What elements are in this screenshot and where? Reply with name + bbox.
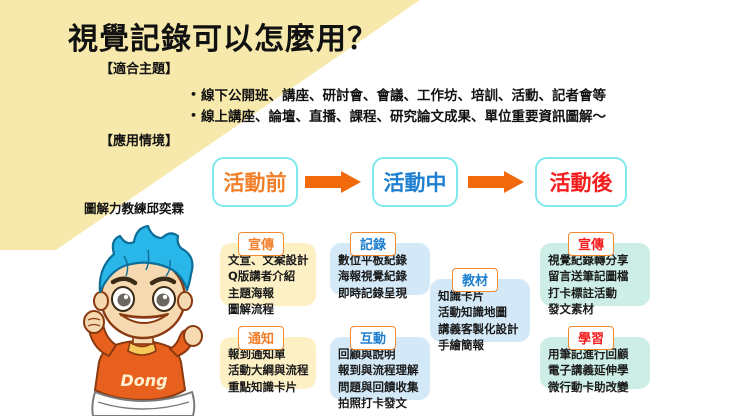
card-line: 拍照打卡發文 <box>338 395 422 411</box>
category-chip-learning[interactable]: 學習 <box>568 326 614 350</box>
stage-box-before[interactable]: 活動前 <box>212 157 298 207</box>
stage-box-during[interactable]: 活動中 <box>372 157 458 207</box>
section-label-application-scenarios: 【應用情境】 <box>100 130 178 149</box>
category-chip-promotion-after[interactable]: 宣傳 <box>568 232 614 256</box>
slide-canvas: 視覺記錄可以怎麼用？ 【適合主題】 線下公開班、講座、研討會、會議、工作坊、培訓… <box>0 0 740 416</box>
category-chip-interaction[interactable]: 互動 <box>350 326 396 350</box>
card-line: 微行動卡助改變 <box>548 379 642 395</box>
category-chip-promotion-before[interactable]: 宣傳 <box>238 232 284 256</box>
card-line: 問題與回饋收集 <box>338 379 422 395</box>
bullet-item: 線上講座、論壇、直播、課程、研究論文成果、單位重要資訊圖解～ <box>190 107 606 128</box>
card-line: 即時記錄呈現 <box>338 285 422 301</box>
card-line: 主題海報 <box>228 285 308 301</box>
page-title: 視覺記錄可以怎麼用？ <box>68 14 378 58</box>
card-line: 留言送筆記圖檔 <box>548 268 642 284</box>
suitable-topics-bullet-list: 線下公開班、講座、研討會、會議、工作坊、培訓、活動、記者會等 線上講座、論壇、直… <box>190 86 606 128</box>
arrow-right-icon <box>305 171 361 193</box>
category-chip-notification[interactable]: 通知 <box>238 326 284 350</box>
card-line: Q版講者介紹 <box>228 268 308 284</box>
mascot-illustration: Dong <box>78 216 208 416</box>
bullet-item: 線下公開班、講座、研討會、會議、工作坊、培訓、活動、記者會等 <box>190 86 606 107</box>
category-chip-teaching-material[interactable]: 教材 <box>452 268 498 292</box>
card-line: 海報視覺紀錄 <box>338 268 422 284</box>
card-line: 電子講義延伸學 <box>548 362 642 378</box>
arrow-right-icon <box>468 171 524 193</box>
card-line: 活動大綱與流程 <box>228 362 308 378</box>
card-line: 手繪簡報 <box>438 337 522 353</box>
mascot-boy-icon: Dong <box>78 216 208 416</box>
category-chip-record[interactable]: 記錄 <box>350 232 396 256</box>
card-line: 發文素材 <box>548 301 642 317</box>
author-attribution: 圖解力教練邱奕霖 <box>84 198 184 217</box>
mascot-shirt-text: Dong <box>120 371 167 390</box>
stage-box-after[interactable]: 活動後 <box>535 157 627 207</box>
card-line: 重點知識卡片 <box>228 379 308 395</box>
card-line: 圖解流程 <box>228 301 308 317</box>
card-line: 講義客製化設計 <box>438 321 522 337</box>
card-line: 活動知識地圖 <box>438 304 522 320</box>
section-label-suitable-topics: 【適合主題】 <box>100 58 178 77</box>
card-line: 打卡標註活動 <box>548 285 642 301</box>
card-line: 報到與流程理解 <box>338 362 422 378</box>
